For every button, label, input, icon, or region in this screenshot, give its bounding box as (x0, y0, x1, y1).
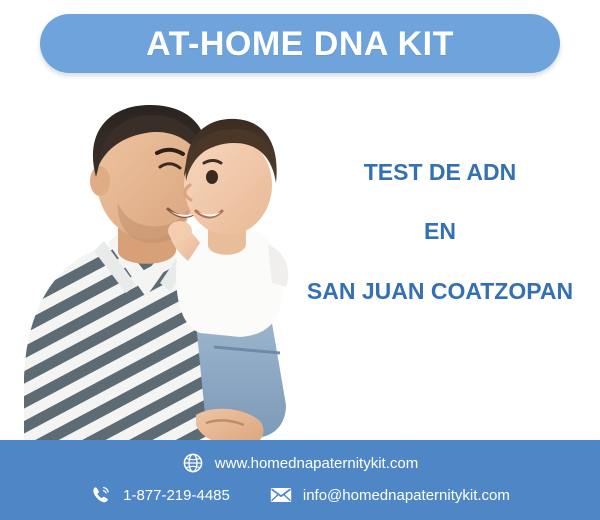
hero-photo (0, 85, 320, 455)
headline-line-1: TEST DE ADN (290, 160, 590, 185)
headline-block: TEST DE ADN EN SAN JUAN COATZOPAN (290, 160, 590, 304)
globe-icon (182, 452, 204, 474)
header-banner: AT-HOME DNA KIT (40, 14, 560, 73)
headline-line-2: EN (290, 219, 590, 244)
email-item[interactable]: info@homednapaternitykit.com (270, 484, 510, 506)
footer-contact-bar: www.homednapaternitykit.com 1-877-219-44… (0, 440, 600, 520)
headline-line-3: SAN JUAN COATZOPAN (290, 279, 590, 304)
phone-text: 1-877-219-4485 (123, 487, 230, 504)
phone-item[interactable]: 1-877-219-4485 (90, 484, 230, 506)
email-text: info@homednapaternitykit.com (303, 487, 510, 504)
poster-canvas: AT-HOME DNA KIT (0, 0, 600, 520)
page-title: AT-HOME DNA KIT (146, 27, 454, 61)
phone-icon (90, 484, 112, 506)
website-item[interactable]: www.homednapaternitykit.com (182, 452, 418, 474)
footer-contact-row: 1-877-219-4485 info@homednapaternitykit.… (0, 484, 600, 506)
envelope-icon (270, 484, 292, 506)
website-text: www.homednapaternitykit.com (215, 455, 418, 472)
footer-website-row: www.homednapaternitykit.com (0, 452, 600, 474)
